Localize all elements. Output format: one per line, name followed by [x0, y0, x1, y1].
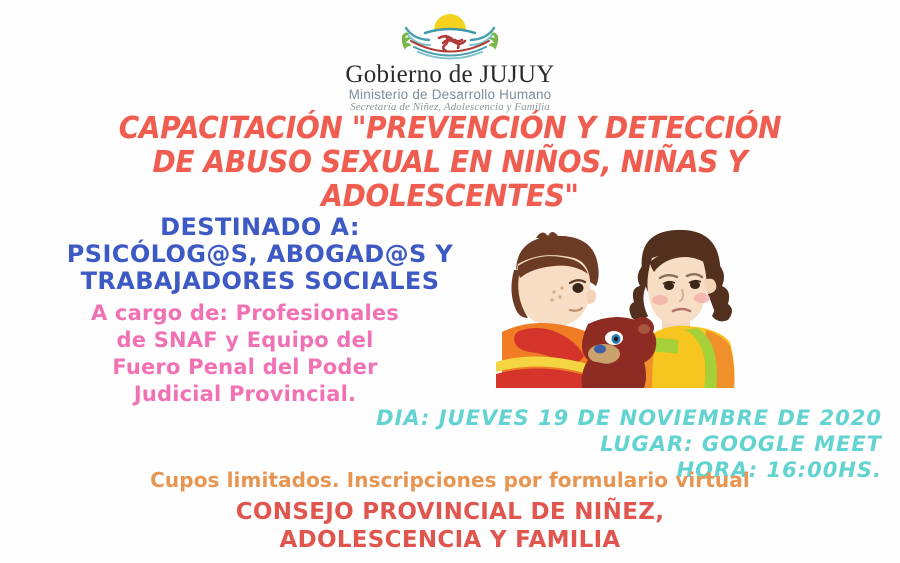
logo-title: Gobierno de JUJUY [345, 62, 554, 87]
main-title-line-1: CAPACITACIÓN "PREVENCIÓN Y DETECCIÓN [48, 112, 852, 146]
organizer-block: CONSEJO PROVINCIAL DE NIÑEZ, ADOLESCENCI… [0, 498, 900, 554]
acargo-line-4: Judicial Provincial. [10, 381, 480, 408]
boy-with-teddy-bear-and-woman-illustration [492, 228, 812, 388]
organizer-line-2: ADOLESCENCIA Y FAMILIA [0, 526, 900, 554]
target-audience-block: DESTINADO A: PSICÓLOG@S, ABOGAD@S Y TRAB… [10, 214, 510, 295]
destinado-line-3: TRABAJADORES SOCIALES [10, 268, 510, 295]
acargo-line-1: A cargo de: Profesionales [10, 300, 480, 327]
destinado-line-2: PSICÓLOG@S, ABOGAD@S Y [10, 241, 510, 268]
acargo-line-3: Fuero Penal del Poder [10, 354, 480, 381]
organizer-line-1: CONSEJO PROVINCIAL DE NIÑEZ, [0, 498, 900, 526]
registration-note: Cupos limitados. Inscripciones por formu… [0, 468, 900, 492]
gobierno-jujuy-emblem-icon [375, 8, 525, 64]
logo-subtitle-ministry: Ministerio de Desarrollo Humano [349, 88, 552, 102]
government-logo-block: Gobierno de JUJUY Ministerio de Desarrol… [0, 8, 900, 114]
main-title-line-3: ADOLESCENTES" [48, 180, 852, 214]
event-location: LUGAR: GOOGLE MEET [222, 431, 882, 457]
poster-canvas: Gobierno de JUJUY Ministerio de Desarrol… [0, 0, 900, 563]
event-date: DIA: JUEVES 19 DE NOVIEMBRE DE 2020 [222, 405, 882, 431]
acargo-line-2: de SNAF y Equipo del [10, 327, 480, 354]
illustration-svg [492, 228, 812, 388]
presenters-block: A cargo de: Profesionales de SNAF y Equi… [10, 300, 480, 408]
main-title-line-2: DE ABUSO SEXUAL EN NIÑOS, NIÑAS Y [48, 146, 852, 180]
destinado-heading: DESTINADO A: [10, 214, 510, 241]
page-title: CAPACITACIÓN "PREVENCIÓN Y DETECCIÓN DE … [48, 112, 852, 214]
